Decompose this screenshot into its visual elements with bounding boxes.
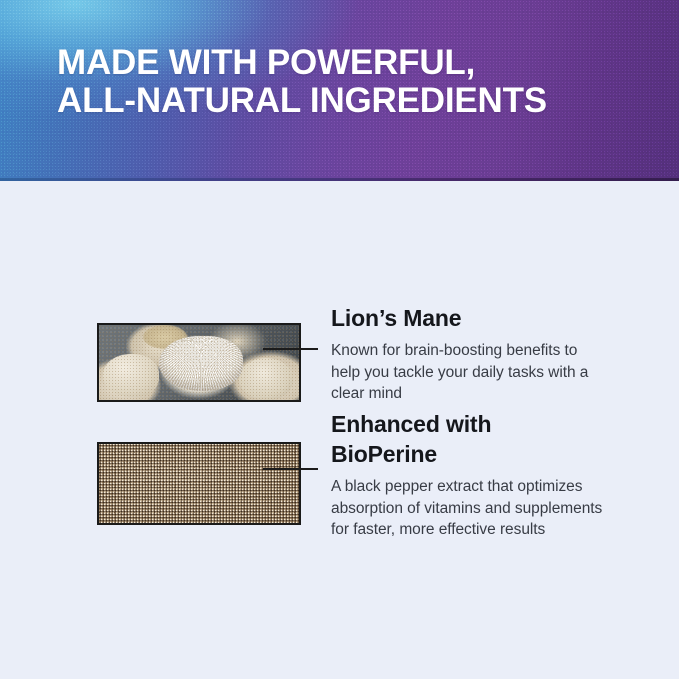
lions-mane-detail: Lion’s Mane Known for brain-boosting ben… [331,303,661,405]
lions-mane-thumbnail [97,323,301,402]
connector-line [263,468,318,470]
connector-line [263,348,318,350]
ingredient-description: A black pepper extract that optimizes ab… [331,476,661,541]
bioperine-photo [99,444,299,523]
bioperine-detail: Enhanced with BioPerine A black pepper e… [331,409,661,541]
ingredient-title: Lion’s Mane [331,303,661,333]
header-banner: MADE WITH POWERFUL, ALL-NATURAL INGREDIE… [0,0,679,181]
ingredient-title: Enhanced with BioPerine [331,409,661,469]
bioperine-thumbnail [97,442,301,525]
ingredient-description: Known for brain-boosting benefits to hel… [331,340,661,405]
lions-mane-photo [99,325,299,400]
ingredients-section: Lion’s Mane Known for brain-boosting ben… [0,181,679,679]
mushroom-speckle-texture [99,325,299,400]
banner-headline: MADE WITH POWERFUL, ALL-NATURAL INGREDIE… [57,44,547,120]
